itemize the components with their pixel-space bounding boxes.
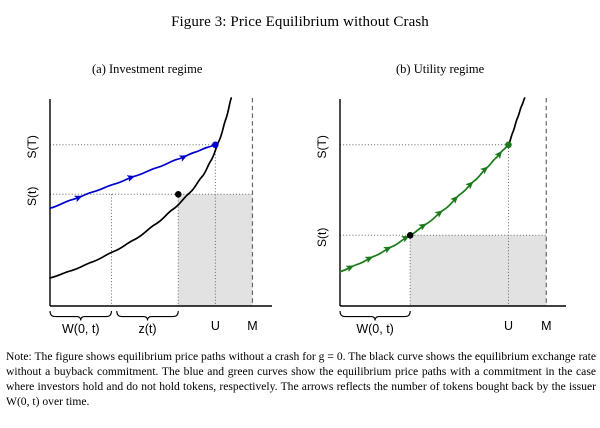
black-intersection-dot xyxy=(407,232,414,239)
brace-label-zt: z(t) xyxy=(138,322,156,336)
arrow-marker-icon xyxy=(127,173,136,181)
y-axis-label-St: S(t) xyxy=(25,187,39,206)
figure-plot-area: W(0, t)z(t) S(T)S(t)UM W(0, t) S(T)S(t)U… xyxy=(0,0,600,345)
shaded-region xyxy=(410,235,546,306)
panel-b-shaded-region xyxy=(410,235,546,306)
green-endpoint-dot xyxy=(505,142,512,149)
black-intersection-dot xyxy=(175,191,182,198)
panel-b-braces: W(0, t) xyxy=(340,311,410,336)
brace-label-W0t: W(0, t) xyxy=(356,322,394,336)
brace-W0t xyxy=(340,311,410,320)
y-axis-label-ST: S(T) xyxy=(25,135,39,158)
x-tick-label-U: U xyxy=(211,319,220,333)
arrow-marker-icon xyxy=(346,263,355,272)
y-axis-label-St: S(t) xyxy=(315,228,329,247)
arrow-marker-icon xyxy=(384,244,393,253)
arrow-marker-icon xyxy=(179,153,188,162)
panel-b-markers xyxy=(407,142,512,239)
figure-note: Note: The figure shows equilibrium price… xyxy=(6,349,596,409)
x-tick-label-M: M xyxy=(541,319,551,333)
shaded-region xyxy=(178,194,252,306)
panel-a-braces: W(0, t)z(t) xyxy=(50,311,178,336)
x-tick-label-U: U xyxy=(504,319,513,333)
brace-W0t xyxy=(50,311,111,320)
x-tick-label-M: M xyxy=(247,319,257,333)
panel-b-chart: W(0, t) S(T)S(t)UM xyxy=(315,98,566,336)
panel-a-markers xyxy=(175,142,219,198)
arrow-marker-icon xyxy=(365,254,374,263)
blue-endpoint-dot xyxy=(212,142,219,149)
brace-label-W0t: W(0, t) xyxy=(62,322,100,336)
y-axis-label-ST: S(T) xyxy=(315,135,329,158)
panel-a-chart: W(0, t)z(t) S(T)S(t)UM xyxy=(25,98,272,336)
panel-a-shaded-region xyxy=(178,194,252,306)
curve-000000 xyxy=(508,98,524,145)
brace-zt xyxy=(117,311,178,320)
